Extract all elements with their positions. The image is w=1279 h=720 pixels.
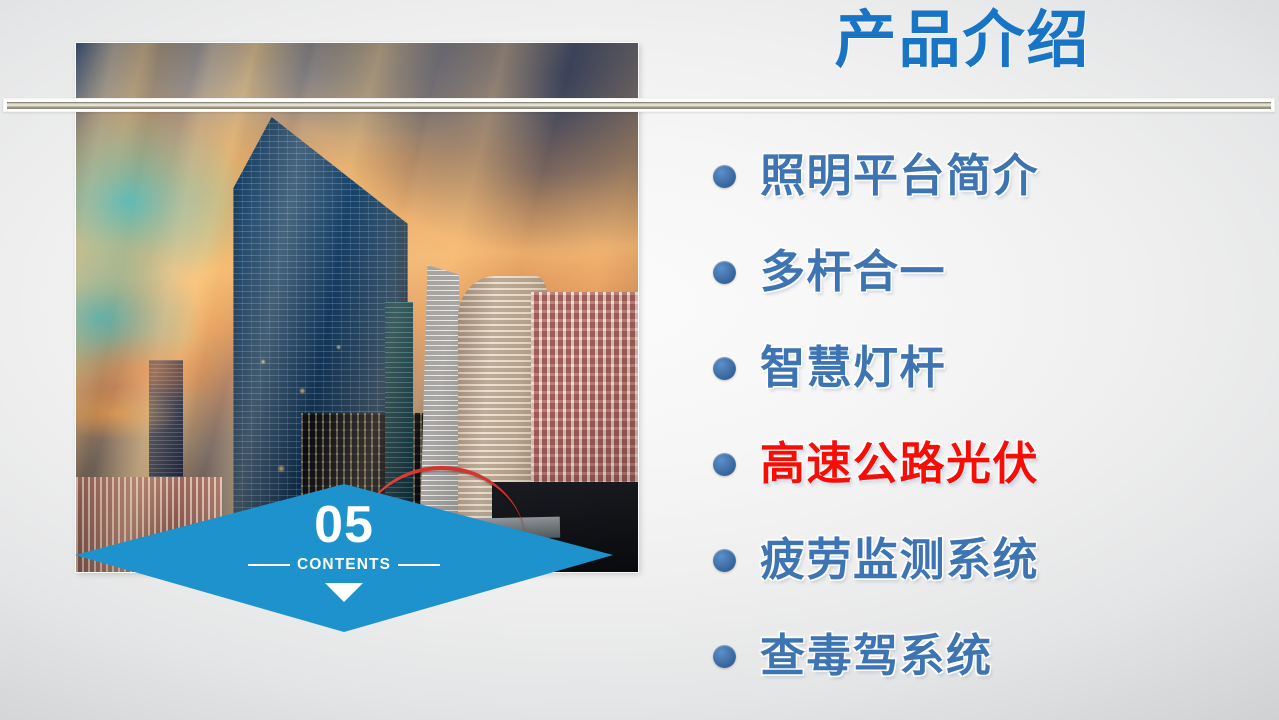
bullet-dot-wrap (646, 357, 760, 380)
contents-badge[interactable]: 05 CONTENTS (75, 484, 613, 632)
list-item[interactable]: 疲劳监测系统 (646, 512, 1279, 608)
bullet-dot-wrap (646, 645, 760, 668)
bullet-dot-icon (713, 549, 736, 572)
contents-number: 05 (314, 500, 374, 551)
bullet-dot-icon (713, 261, 736, 284)
bullet-label-lighting-platform: 照明平台简介 (760, 152, 1039, 199)
list-item[interactable]: 查毒驾系统 (646, 608, 1279, 704)
list-item[interactable]: 智慧灯杆 (646, 320, 1279, 416)
presentation-slide: 05 CONTENTS 产品介绍 照明平台简介 多杆合一 (0, 0, 1279, 720)
list-item[interactable]: 多杆合一 (646, 224, 1279, 320)
list-item[interactable]: 高速公路光伏 (646, 416, 1279, 512)
bullet-label-multi-pole: 多杆合一 (760, 248, 946, 295)
caret-down-icon (325, 583, 363, 602)
bullet-label-fatigue-monitoring: 疲劳监测系统 (760, 536, 1039, 583)
bullet-label-smart-lamp-pole: 智慧灯杆 (760, 344, 946, 391)
bullet-label-highway-photovoltaic: 高速公路光伏 (760, 440, 1039, 487)
bullet-list: 照明平台简介 多杆合一 智慧灯杆 高速公路光伏 (646, 128, 1279, 704)
contents-label: CONTENTS (297, 556, 391, 574)
bullet-dot-wrap (646, 453, 760, 476)
bullet-dot-icon (713, 357, 736, 380)
bullet-label-drug-driving-check: 查毒驾系统 (760, 632, 993, 679)
page-title: 产品介绍 (646, 2, 1279, 80)
right-content-panel: 产品介绍 照明平台简介 多杆合一 智慧灯杆 (646, 0, 1279, 720)
bullet-dot-icon (713, 165, 736, 188)
bullet-dot-wrap (646, 549, 760, 572)
contents-rule-left (248, 564, 290, 566)
contents-rule-right (398, 564, 440, 566)
bullet-dot-icon (713, 453, 736, 476)
bullet-dot-wrap (646, 261, 760, 284)
list-item[interactable]: 照明平台简介 (646, 128, 1279, 224)
contents-label-row: CONTENTS (248, 556, 440, 574)
bullet-dot-icon (713, 645, 736, 668)
bullet-dot-wrap (646, 165, 760, 188)
